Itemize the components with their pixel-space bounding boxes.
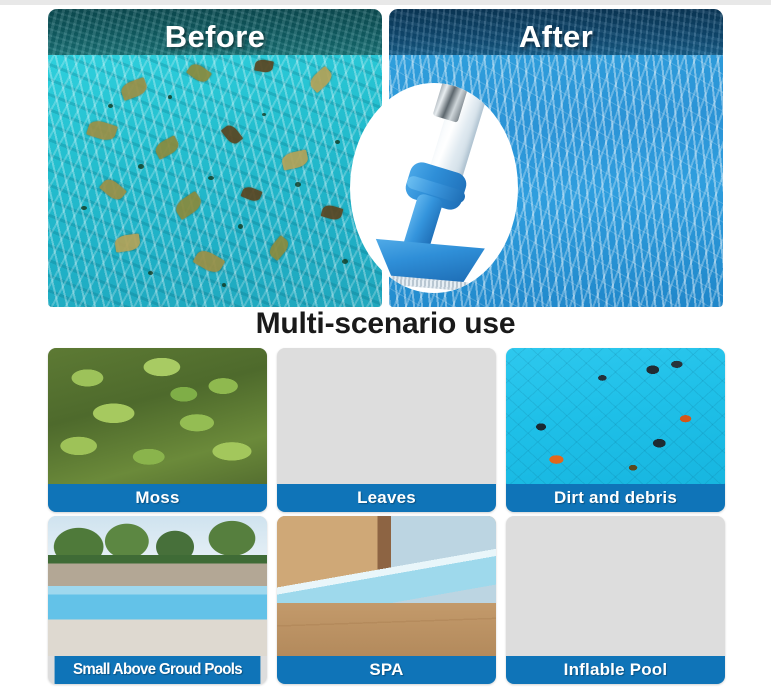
scenario-label-dirt-and-debris: Dirt and debris xyxy=(506,484,725,512)
scenario-tile-small-above-ground-pools[interactable]: Small Above Groud Pools xyxy=(48,516,267,684)
top-strip xyxy=(0,0,771,5)
scenario-photo-spa xyxy=(277,516,496,656)
product-image-oval xyxy=(350,83,518,293)
scenario-tile-inflatable-pool[interactable]: Inflable Pool xyxy=(506,516,725,684)
scenario-label-inflatable-pool: Inflable Pool xyxy=(506,656,725,684)
section-heading: Multi-scenario use xyxy=(0,307,771,341)
before-panel: Before xyxy=(48,9,382,307)
scenario-tile-spa[interactable]: SPA xyxy=(277,516,496,684)
scenario-label-leaves: Leaves xyxy=(277,484,496,512)
scenario-tile-dirt-and-debris[interactable]: Dirt and debris xyxy=(506,348,725,512)
scenario-grid: Moss Leaves Dirt and debris Small Above … xyxy=(48,348,724,684)
scenario-photo-leaves xyxy=(277,348,496,484)
scenario-photo-moss xyxy=(48,348,267,484)
scenario-photo-small-above-ground-pools xyxy=(48,516,267,656)
scenario-label-moss: Moss xyxy=(48,484,267,512)
pool-vacuum-icon xyxy=(350,83,518,293)
before-caption: Before xyxy=(48,19,382,55)
after-caption: After xyxy=(389,19,723,55)
before-after-hero: Before After xyxy=(48,9,723,307)
scenario-tile-leaves[interactable]: Leaves xyxy=(277,348,496,512)
scenario-photo-dirt-and-debris xyxy=(506,348,725,484)
scenario-label-small-above-ground-pools: Small Above Groud Pools xyxy=(55,656,261,684)
scenario-label-spa: SPA xyxy=(277,656,496,684)
scenario-tile-moss[interactable]: Moss xyxy=(48,348,267,512)
